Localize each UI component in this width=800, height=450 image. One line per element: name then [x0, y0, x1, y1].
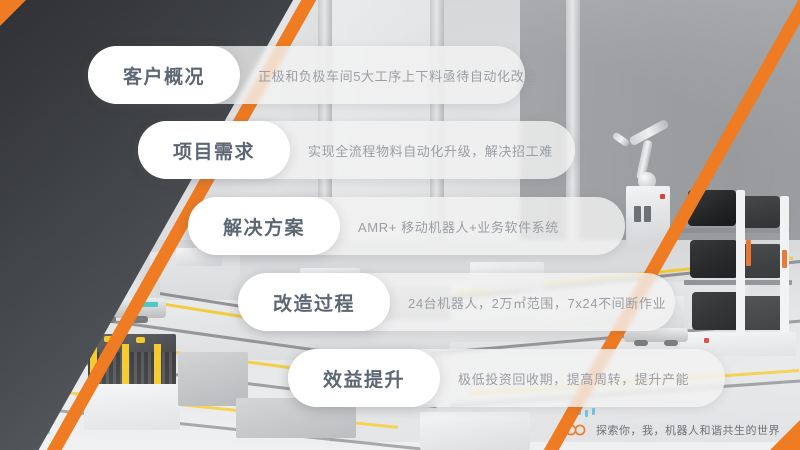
- footer-tagline: 探索你，我，机器人和谐共生的世界: [596, 422, 780, 438]
- content-rows: 客户概况 正极和负极车间5大工序上下料亟待自动化改造 项目需求 实现全流程物料自…: [0, 0, 800, 450]
- slide-stage: 客户概况 正极和负极车间5大工序上下料亟待自动化改造 项目需求 实现全流程物料自…: [0, 0, 800, 450]
- content-row-2-desc: 实现全流程物料自动化升级，解决招工难: [308, 121, 553, 179]
- content-row-4-title: 改造过程: [273, 289, 355, 316]
- content-row-3-desc: AMR+ 移动机器人+业务软件系统: [358, 197, 559, 255]
- content-row-4-pill[interactable]: 改造过程: [238, 273, 390, 331]
- infinity-logo-icon: [565, 424, 587, 436]
- content-row-1-pill[interactable]: 客户概况: [88, 46, 240, 104]
- content-row-5-desc: 极低投资回收期，提高周转，提升产能: [458, 349, 689, 407]
- content-row-5-title: 效益提升: [323, 365, 405, 392]
- content-row-4-desc: 24台机器人，2万㎡范围，7x24不间断作业: [408, 273, 666, 331]
- content-row-2-title: 项目需求: [173, 137, 255, 164]
- content-row-3-pill[interactable]: 解决方案: [188, 197, 340, 255]
- content-row-5-pill[interactable]: 效益提升: [288, 349, 440, 407]
- content-row-3-title: 解决方案: [223, 213, 305, 240]
- content-row-2-pill[interactable]: 项目需求: [138, 121, 290, 179]
- footer: 探索你，我，机器人和谐共生的世界: [565, 422, 780, 438]
- content-row-1-title: 客户概况: [123, 62, 205, 89]
- content-row-1-desc: 正极和负极车间5大工序上下料亟待自动化改造: [258, 46, 538, 104]
